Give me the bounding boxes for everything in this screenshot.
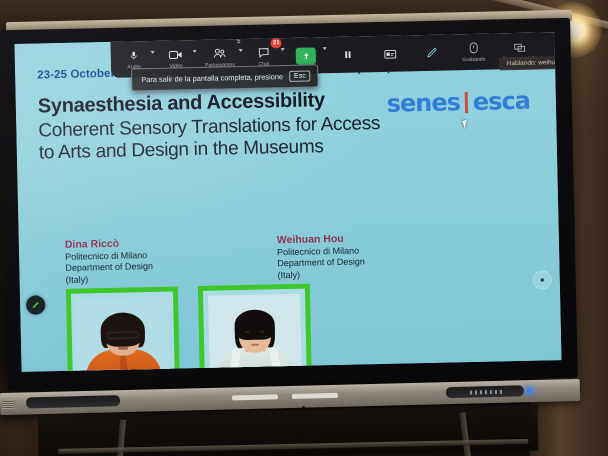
toolbar-captions-button[interactable] [372, 36, 407, 71]
author-photo-frame [66, 286, 180, 371]
toolbar-recording-button[interactable]: Grabando [456, 35, 491, 70]
author-country: (Italy) [277, 267, 405, 281]
captions-icon [383, 47, 396, 61]
active-speaker-pill: Hablando: weihuan hou [499, 56, 562, 71]
pen-icon [426, 46, 438, 60]
event-logo-right-text: esca [473, 87, 531, 116]
display-stand [38, 405, 539, 456]
chevron-down-icon[interactable] [281, 48, 285, 51]
display-screen[interactable]: 23-25 October 2025, Convento Capuchinos … [14, 32, 561, 372]
more-icon [560, 39, 561, 53]
authors-row: Dina Riccò Politecnico di Milano Departm… [65, 231, 406, 285]
stand-shelf [58, 439, 528, 454]
chevron-down-icon[interactable] [151, 51, 155, 54]
toolbar-recording-label: Grabando [462, 57, 485, 64]
new-share-icon [514, 40, 526, 54]
chevron-down-icon[interactable] [323, 47, 327, 50]
author-portrait-weihuan-hou [208, 294, 302, 372]
participants-icon: 5 [213, 46, 227, 60]
stand-leg-right [459, 412, 470, 456]
speaker-grille-left [26, 395, 120, 408]
author-block: Weihuan Hou Politecnico di Milano Depart… [277, 231, 406, 281]
share-screen-icon[interactable] [296, 47, 316, 64]
participants-count-badge: 5 [237, 38, 241, 45]
pen-icon [31, 300, 40, 309]
record-icon [469, 41, 479, 55]
event-logo: senes esca [386, 87, 530, 118]
display-bezel: 23-25 October 2025, Convento Capuchinos … [0, 18, 578, 390]
author-photo-frame [198, 284, 312, 372]
chat-unread-badge: 21 [271, 38, 282, 48]
chat-icon: 21 [257, 45, 270, 59]
esc-key-label: Esc [289, 70, 311, 81]
author-country: (Italy) [66, 272, 194, 286]
chevron-down-icon[interactable] [193, 50, 197, 53]
fullscreen-hint-text: Para salir de la pantalla completa, pres… [141, 72, 283, 84]
toolbar-pause-button[interactable] [330, 37, 365, 72]
control-indicator-dots [470, 390, 502, 395]
room-scene: 23-25 October 2025, Convento Capuchinos … [0, 0, 608, 456]
io-panel [2, 401, 16, 409]
interactive-display: 23-25 October 2025, Convento Capuchinos … [0, 10, 578, 394]
slide-subtitle: Coherent Sensory Translations for Access… [38, 110, 535, 166]
power-led-indicator [527, 388, 532, 393]
author-photos [66, 284, 312, 372]
speaker-vent-right [292, 393, 338, 399]
fullscreen-hint-tooltip: Para salir de la pantalla completa, pres… [131, 64, 319, 91]
pause-icon [343, 48, 353, 62]
camera-icon [169, 47, 183, 61]
toolbar-annotate-button[interactable] [414, 35, 449, 70]
author-block: Dina Riccò Politecnico di Milano Departm… [65, 236, 194, 286]
square-icon [539, 276, 546, 283]
speaker-vent-left [232, 394, 278, 400]
chevron-down-icon[interactable] [239, 49, 243, 52]
author-portrait-dina-ricco [76, 297, 170, 372]
event-logo-left-text: senes [386, 88, 460, 118]
microphone-icon [129, 48, 139, 62]
event-logo-divider [465, 92, 468, 113]
